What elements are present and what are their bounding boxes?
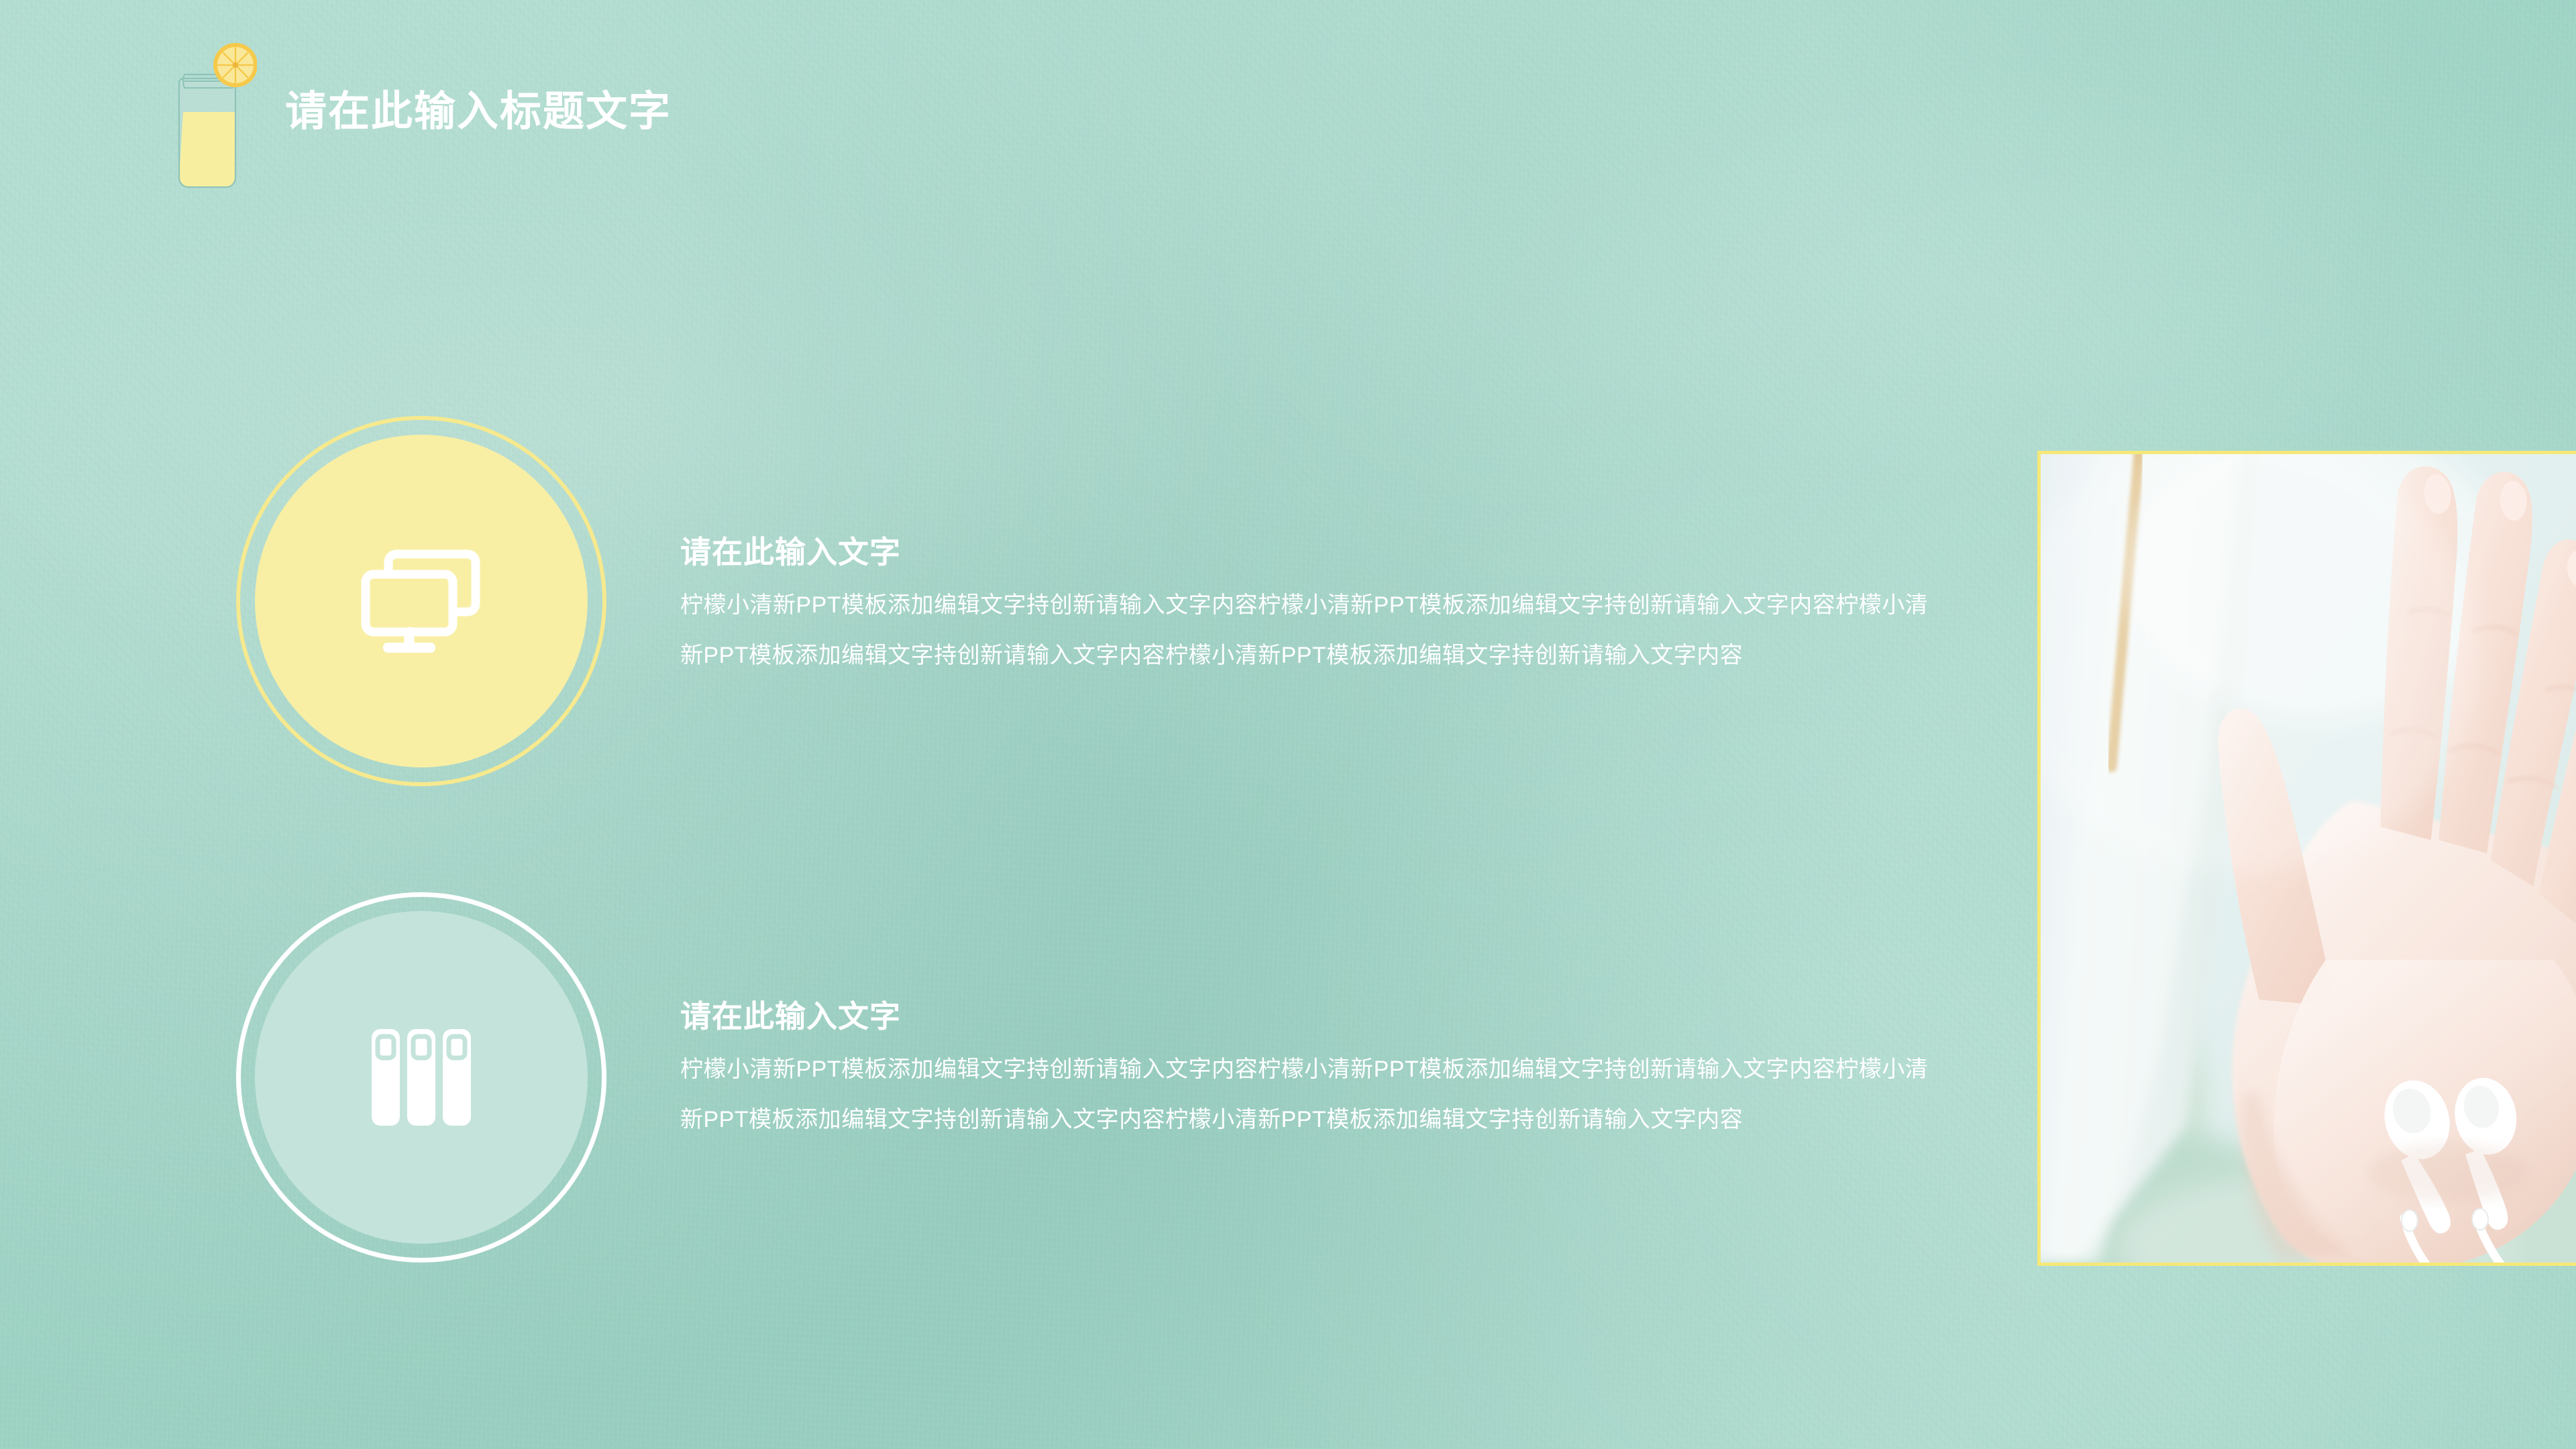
- feature-badge-1[interactable]: [236, 416, 606, 786]
- feature-row-1: 请在此输入文字 柠檬小清新PPT模板添加编辑文字持创新请输入文字内容柠檬小清新P…: [236, 416, 1935, 786]
- books-icon: [236, 892, 606, 1263]
- monitor-screens-icon: [236, 416, 606, 786]
- feature-body-2: 柠檬小清新PPT模板添加编辑文字持创新请输入文字内容柠檬小清新PPT模板添加编辑…: [680, 1044, 1935, 1145]
- photo-frame: [2037, 451, 2576, 1266]
- feature-text-2: 请在此输入文字 柠檬小清新PPT模板添加编辑文字持创新请输入文字内容柠檬小清新P…: [680, 892, 1935, 1145]
- page-title: 请在此输入标题文字: [285, 91, 672, 137]
- lemonade-jar-icon: [171, 37, 257, 191]
- feature-row-2: 请在此输入文字 柠檬小清新PPT模板添加编辑文字持创新请输入文字内容柠檬小清新P…: [236, 892, 1935, 1263]
- feature-heading-1: 请在此输入文字: [680, 535, 1935, 570]
- feature-body-1: 柠檬小清新PPT模板添加编辑文字持创新请输入文字内容柠檬小清新PPT模板添加编辑…: [680, 580, 1935, 681]
- hand-with-earbuds-photo: [2041, 454, 2576, 1263]
- feature-text-1: 请在此输入文字 柠檬小清新PPT模板添加编辑文字持创新请输入文字内容柠檬小清新P…: [680, 416, 1935, 681]
- slide-header: 请在此输入标题文字: [171, 37, 672, 191]
- feature-badge-2[interactable]: [236, 892, 606, 1263]
- slide-canvas: 请在此输入标题文字 请在此输入文字 柠檬小清新PPT模板添加编辑文字: [0, 0, 2576, 1449]
- feature-heading-2: 请在此输入文字: [680, 1000, 1935, 1034]
